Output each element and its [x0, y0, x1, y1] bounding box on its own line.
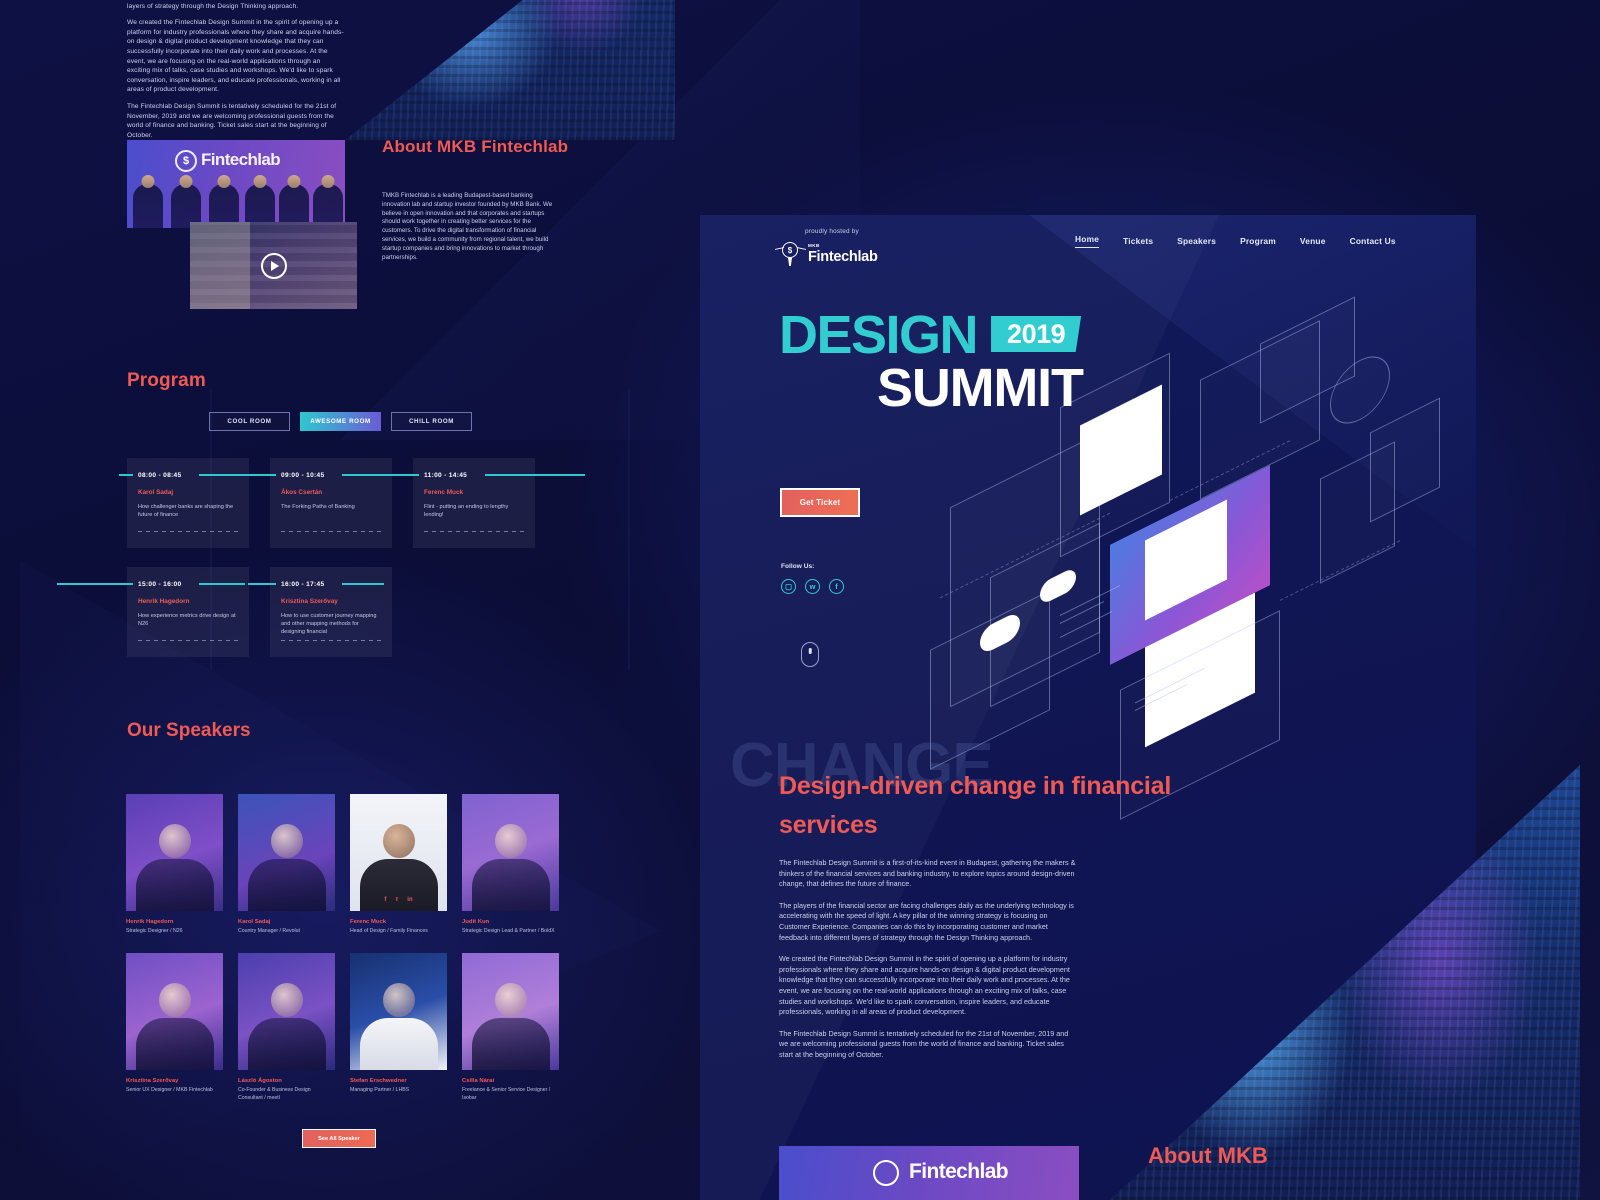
- program-card[interactable]: 15:00 - 16:00 Henrik Hagedorn How experi…: [127, 567, 249, 657]
- left-top-paragraphs: cards this by incorporating customer and…: [127, 0, 345, 147]
- fintechlab-bulb-icon: [873, 1160, 899, 1186]
- session-title: How to use customer journey mapping and …: [281, 612, 381, 636]
- left-speakers-heading: Our Speakers: [127, 718, 267, 743]
- fintechlab-bulb-icon: [175, 150, 197, 172]
- program-card[interactable]: 09:00 - 10:45 Ákos Csertán The Forking P…: [270, 458, 392, 548]
- room-tab-cool[interactable]: COOL ROOM: [209, 412, 290, 431]
- social-links: ▢ w f: [781, 579, 844, 594]
- main-paragraph-2: We created the Fintechlab Design Summit …: [779, 954, 1079, 1018]
- speaker-card[interactable]: Csilla Nárai Freelance & Senior Service …: [462, 953, 559, 1102]
- fintechlab-wordmark: Fintechlab: [201, 150, 280, 170]
- session-divider: [281, 640, 381, 641]
- speaker-photo: [462, 794, 559, 911]
- main-heading: Design-driven change in financial servic…: [779, 767, 1199, 845]
- fintechlab-bulb-icon: [779, 241, 802, 267]
- speaker-card[interactable]: Henrik Hagedorn Strategic Designer / N26: [126, 794, 223, 935]
- speaker-name: Krisztina Szerővay: [126, 1078, 223, 1084]
- session-divider: [281, 531, 381, 532]
- session-speaker: Henrik Hagedorn: [138, 598, 238, 605]
- speaker-name: Stefan Erschwedner: [350, 1078, 447, 1084]
- speaker-social-icons[interactable]: f ᴛ in: [350, 897, 447, 903]
- about-team-photo: Fintechlab: [779, 1146, 1079, 1200]
- brand-name: Fintechlab: [808, 250, 878, 265]
- nav-item-tickets[interactable]: Tickets: [1123, 236, 1153, 246]
- brand-logo[interactable]: MKB Fintechlab: [779, 241, 878, 267]
- session-speaker: Ákos Csertán: [281, 489, 381, 496]
- nav-item-program[interactable]: Program: [1240, 236, 1276, 246]
- main-paragraph-1: The players of the financial sector are …: [779, 901, 1079, 943]
- session-speaker: Ferenc Muck: [424, 489, 524, 496]
- program-room-tabs: COOL ROOM AWESOME ROOM CHILL ROOM: [209, 412, 472, 431]
- speaker-role: Managing Partner / LHBS: [350, 1087, 447, 1094]
- speakers-row-2: Krisztina Szerővay Senior UX Designer / …: [126, 953, 559, 1102]
- crowd-photo-top: [345, 0, 675, 140]
- speaker-role: Co-Founder & Business Design Consultant …: [238, 1087, 335, 1102]
- about-mkb-heading: About MKB: [1148, 1143, 1268, 1169]
- session-title: The Forking Paths of Banking: [281, 503, 381, 511]
- nav-item-home[interactable]: Home: [1075, 234, 1099, 248]
- main-navigation: Home Tickets Speakers Program Venue Cont…: [1075, 234, 1396, 248]
- left-paragraph-1: We created the Fintechlab Design Summit …: [127, 18, 345, 95]
- speaker-name: Csilla Nárai: [462, 1078, 559, 1084]
- screenshot-root: cards this by incorporating customer and…: [0, 0, 1600, 1200]
- facebook-icon[interactable]: f: [829, 579, 844, 594]
- hero-year-badge: 2019: [991, 316, 1081, 352]
- left-about-heading: About MKB Fintechlab: [382, 136, 582, 158]
- speaker-photo: [126, 953, 223, 1070]
- speaker-role: Country Manager / Revolut: [238, 928, 335, 935]
- left-program-heading: Program: [127, 370, 206, 392]
- session-speaker: Karol Sadaj: [138, 489, 238, 496]
- team-photo: Fintechlab: [127, 140, 345, 228]
- left-paragraph-0: cards this by incorporating customer and…: [127, 0, 345, 11]
- speaker-name: Judit Kun: [462, 919, 559, 925]
- play-icon[interactable]: [261, 253, 287, 279]
- left-about-body: TMKB Fintechlab is a leading Budapest-ba…: [382, 192, 554, 262]
- about-video-thumbnail[interactable]: [190, 222, 357, 309]
- fintechlab-wordmark: Fintechlab: [909, 1160, 1008, 1184]
- program-row-1: 08:00 - 08:45 Karol Sadaj How challenger…: [127, 458, 535, 548]
- speaker-photo: [238, 794, 335, 911]
- nav-item-venue[interactable]: Venue: [1300, 236, 1326, 246]
- linkedin-icon[interactable]: in: [407, 897, 412, 903]
- speaker-role: Senior UX Designer / MKB Fintechlab: [126, 1087, 223, 1094]
- room-tab-awesome[interactable]: AWESOME ROOM: [300, 412, 381, 431]
- speaker-card[interactable]: Judit Kun Strategic Design Lead & Partne…: [462, 794, 559, 935]
- hero-word-summit: SUMMIT: [877, 360, 1083, 416]
- speaker-card[interactable]: Karol Sadaj Country Manager / Revolut: [238, 794, 335, 935]
- speaker-name: László Ágoston: [238, 1078, 335, 1084]
- get-ticket-button[interactable]: Get Ticket: [780, 488, 860, 517]
- program-row-2: 15:00 - 16:00 Henrik Hagedorn How experi…: [127, 567, 535, 657]
- main-paragraph-3: The Fintechlab Design Summit is tentativ…: [779, 1029, 1079, 1061]
- hero-word-design: DESIGN: [779, 310, 977, 360]
- scroll-down-indicator[interactable]: [801, 642, 819, 667]
- speaker-card[interactable]: Stefan Erschwedner Managing Partner / LH…: [350, 953, 447, 1102]
- speaker-role: Freelance & Senior Service Designer / Is…: [462, 1087, 559, 1102]
- speaker-photo: [126, 794, 223, 911]
- speaker-role: Strategic Design Lead & Partner / BoldX: [462, 928, 559, 935]
- instagram-icon[interactable]: ▢: [781, 579, 796, 594]
- program-grid: 08:00 - 08:45 Karol Sadaj How challenger…: [127, 458, 535, 676]
- speaker-photo: f ᴛ in: [350, 794, 447, 911]
- session-title: Flint - putting an ending to lengthy len…: [424, 503, 524, 519]
- session-title: How challenger banks are shaping the fut…: [138, 503, 238, 519]
- see-all-speakers-button[interactable]: See All Speaker: [302, 1129, 376, 1148]
- speaker-photo: [350, 953, 447, 1070]
- follow-us-label: Follow Us:: [781, 563, 814, 570]
- speaker-name: Henrik Hagedorn: [126, 919, 223, 925]
- speaker-card[interactable]: László Ágoston Co-Founder & Business Des…: [238, 953, 335, 1102]
- session-divider: [138, 531, 238, 532]
- room-tab-chill[interactable]: CHILL ROOM: [391, 412, 472, 431]
- main-body-text: The Fintechlab Design Summit is a first-…: [779, 858, 1079, 1072]
- speaker-card[interactable]: Krisztina Szerővay Senior UX Designer / …: [126, 953, 223, 1102]
- speaker-photo: [238, 953, 335, 1070]
- left-paragraph-2: The Fintechlab Design Summit is tentativ…: [127, 102, 345, 140]
- speaker-role: Head of Design / Family Finances: [350, 928, 447, 935]
- session-divider: [138, 640, 238, 641]
- program-card[interactable]: 11:00 - 14:45 Ferenc Muck Flint - puttin…: [413, 458, 535, 548]
- facebook-icon[interactable]: f: [384, 897, 386, 903]
- speaker-name: Ferenc Muck: [350, 919, 447, 925]
- session-divider: [424, 531, 524, 532]
- speaker-photo: [462, 953, 559, 1070]
- session-title: How experience metrics drive design at N…: [138, 612, 238, 628]
- nav-item-speakers[interactable]: Speakers: [1177, 236, 1216, 246]
- team-people: [127, 180, 345, 228]
- host-label: proudly hosted by: [805, 228, 859, 235]
- brand-sub: MKB: [808, 244, 878, 249]
- twitter-icon[interactable]: ᴛ: [395, 897, 398, 903]
- left-page-preview: cards this by incorporating customer and…: [0, 0, 676, 1200]
- speaker-role: Strategic Designer / N26: [126, 928, 223, 935]
- speakers-grid: Henrik Hagedorn Strategic Designer / N26…: [126, 794, 559, 1120]
- hero-title: DESIGN 2019 SUMMIT: [779, 310, 1083, 416]
- program-card[interactable]: 08:00 - 08:45 Karol Sadaj How challenger…: [127, 458, 249, 548]
- speaker-card[interactable]: f ᴛ in Ferenc Muck Head of Design / Fami…: [350, 794, 447, 935]
- main-paragraph-0: The Fintechlab Design Summit is a first-…: [779, 858, 1079, 890]
- twitter-icon[interactable]: w: [805, 579, 820, 594]
- session-speaker: Krisztina Szerővay: [281, 598, 381, 605]
- speaker-name: Karol Sadaj: [238, 919, 335, 925]
- nav-item-contact-us[interactable]: Contact Us: [1350, 236, 1396, 246]
- speakers-row-1: Henrik Hagedorn Strategic Designer / N26…: [126, 794, 559, 935]
- program-card[interactable]: 16:00 - 17:45 Krisztina Szerővay How to …: [270, 567, 392, 657]
